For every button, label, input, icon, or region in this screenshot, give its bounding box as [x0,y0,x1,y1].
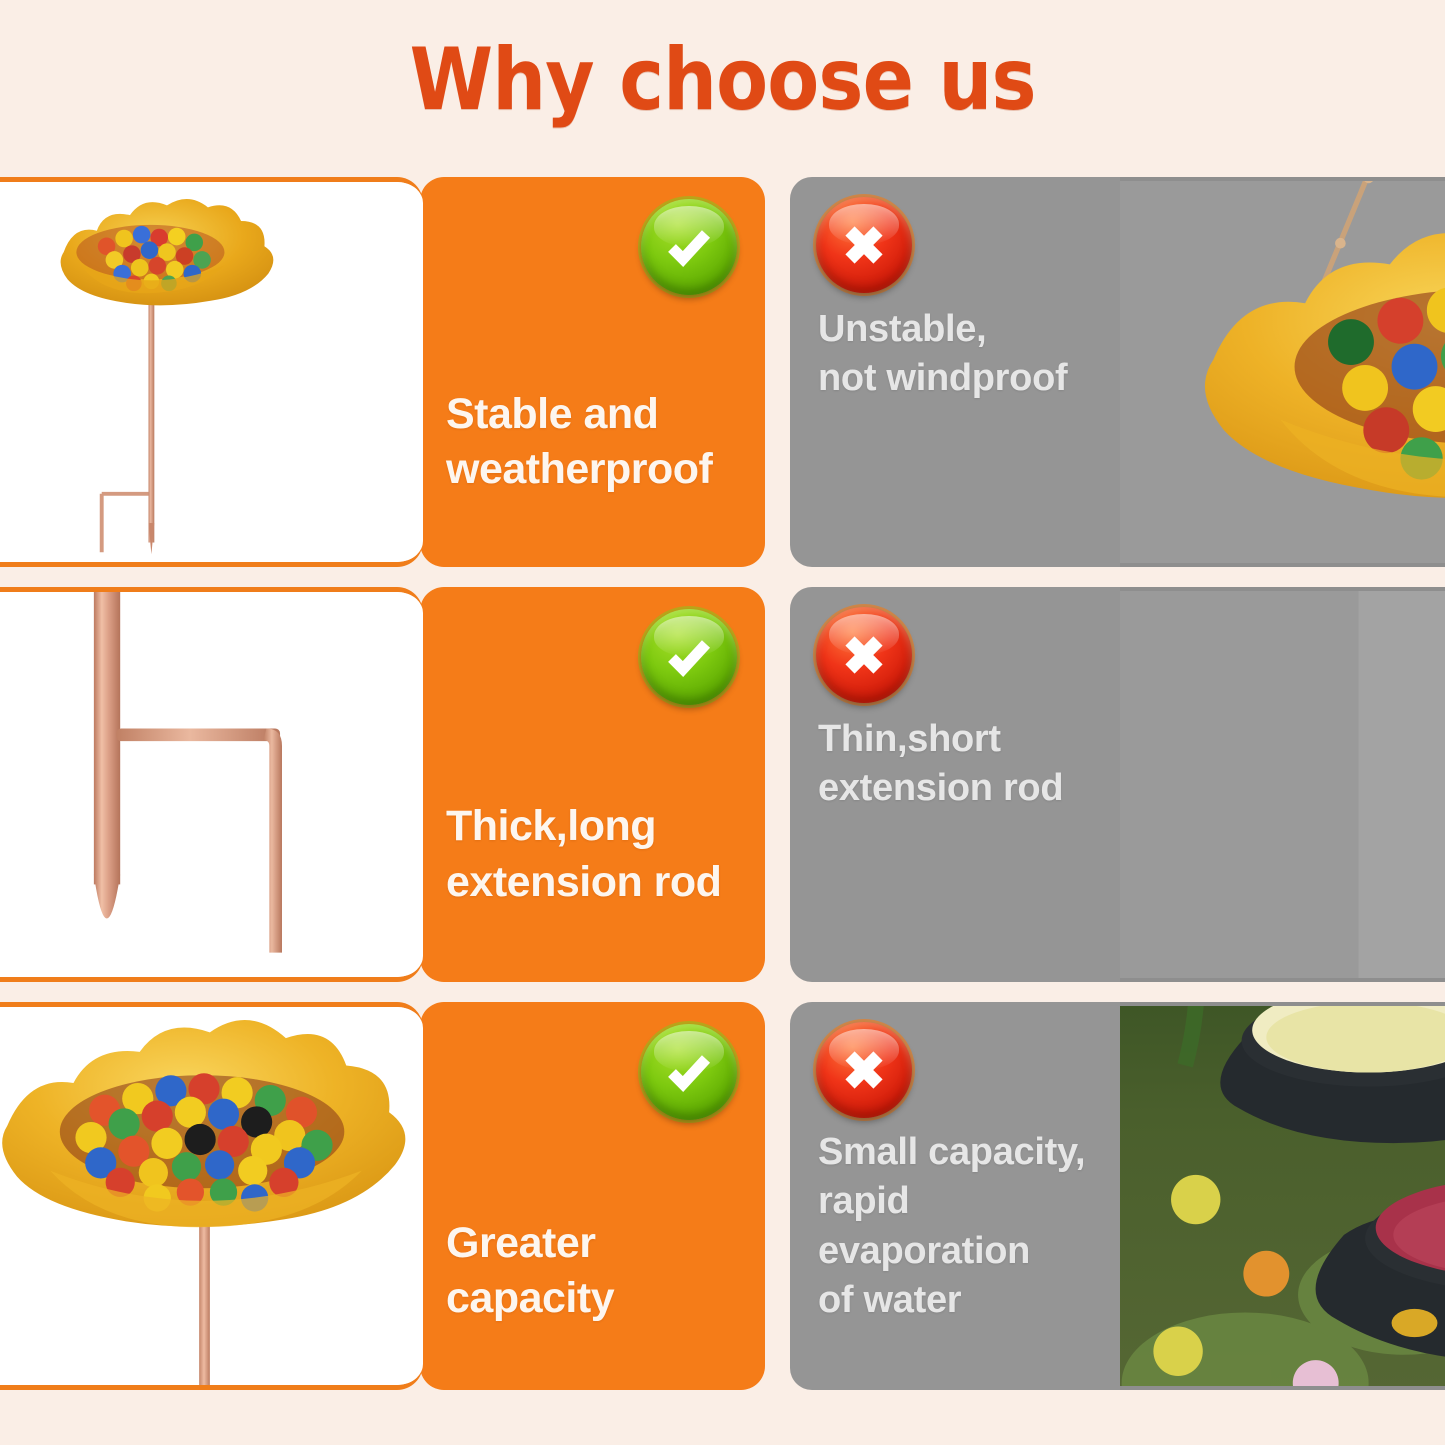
hanging-chain-bird-bath-art [1104,181,1445,563]
con-text-panel: Small capacity, rapid evaporation of wat… [790,1002,1120,1390]
con-side: Unstable, not windproof [790,177,1445,567]
con-product-image [1100,177,1445,567]
con-label: Small capacity, rapid evaporation of wat… [818,1128,1112,1326]
cross-icon [816,1022,912,1118]
page-title: Why choose us [410,30,1036,130]
pro-text-panel: Greater capacity [420,1002,765,1390]
check-icon [641,1024,737,1120]
con-product-image [1100,1002,1445,1390]
page-header: Why choose us [0,0,1445,160]
con-text-panel: Thin,short extension rod [790,587,1120,982]
check-icon [641,609,737,705]
check-badge [641,1024,737,1120]
thick-copper-extension-rod-art [0,592,423,977]
con-label: Thin,short extension rod [818,715,1112,814]
bird-bath-on-copper-stake-art [0,182,423,562]
pro-product-image [0,177,423,567]
pro-product-image [0,1002,423,1390]
thin-black-extension-rod-art [1104,591,1445,978]
pro-side: Thick,long extension rod [0,587,765,982]
cross-badge [816,197,912,293]
pro-label: Stable and weatherproof [446,317,751,567]
comparison-row: Thick,long extension rod [0,587,1445,982]
pro-label: Greater capacity [446,1152,751,1390]
large-flower-bowl-with-marbles-art [0,1007,423,1385]
pro-text-panel: Stable and weatherproof [420,177,765,567]
pro-side: Stable and weatherproof [0,177,765,567]
comparison-row: Stable and weatherproof [0,177,1445,567]
cross-badge [816,607,912,703]
pro-side: Greater capacity [0,1002,765,1390]
cross-icon [816,197,912,293]
pro-label: Thick,long extension rod [446,727,751,982]
small-garden-bowl-feeders-photo-art [1104,1006,1445,1386]
con-label: Unstable, not windproof [818,305,1112,404]
check-badge [641,609,737,705]
check-icon [641,199,737,295]
pro-text-panel: Thick,long extension rod [420,587,765,982]
cross-badge [816,1022,912,1118]
comparison-grid: Stable and weatherproof [0,160,1445,1445]
check-badge [641,199,737,295]
pro-product-image [0,587,423,982]
cross-icon [816,607,912,703]
con-side: Small capacity, rapid evaporation of wat… [790,1002,1445,1390]
con-side: Thin,short extension rod [790,587,1445,982]
comparison-row: Greater capacity [0,1002,1445,1390]
con-product-image [1100,587,1445,982]
con-text-panel: Unstable, not windproof [790,177,1120,567]
